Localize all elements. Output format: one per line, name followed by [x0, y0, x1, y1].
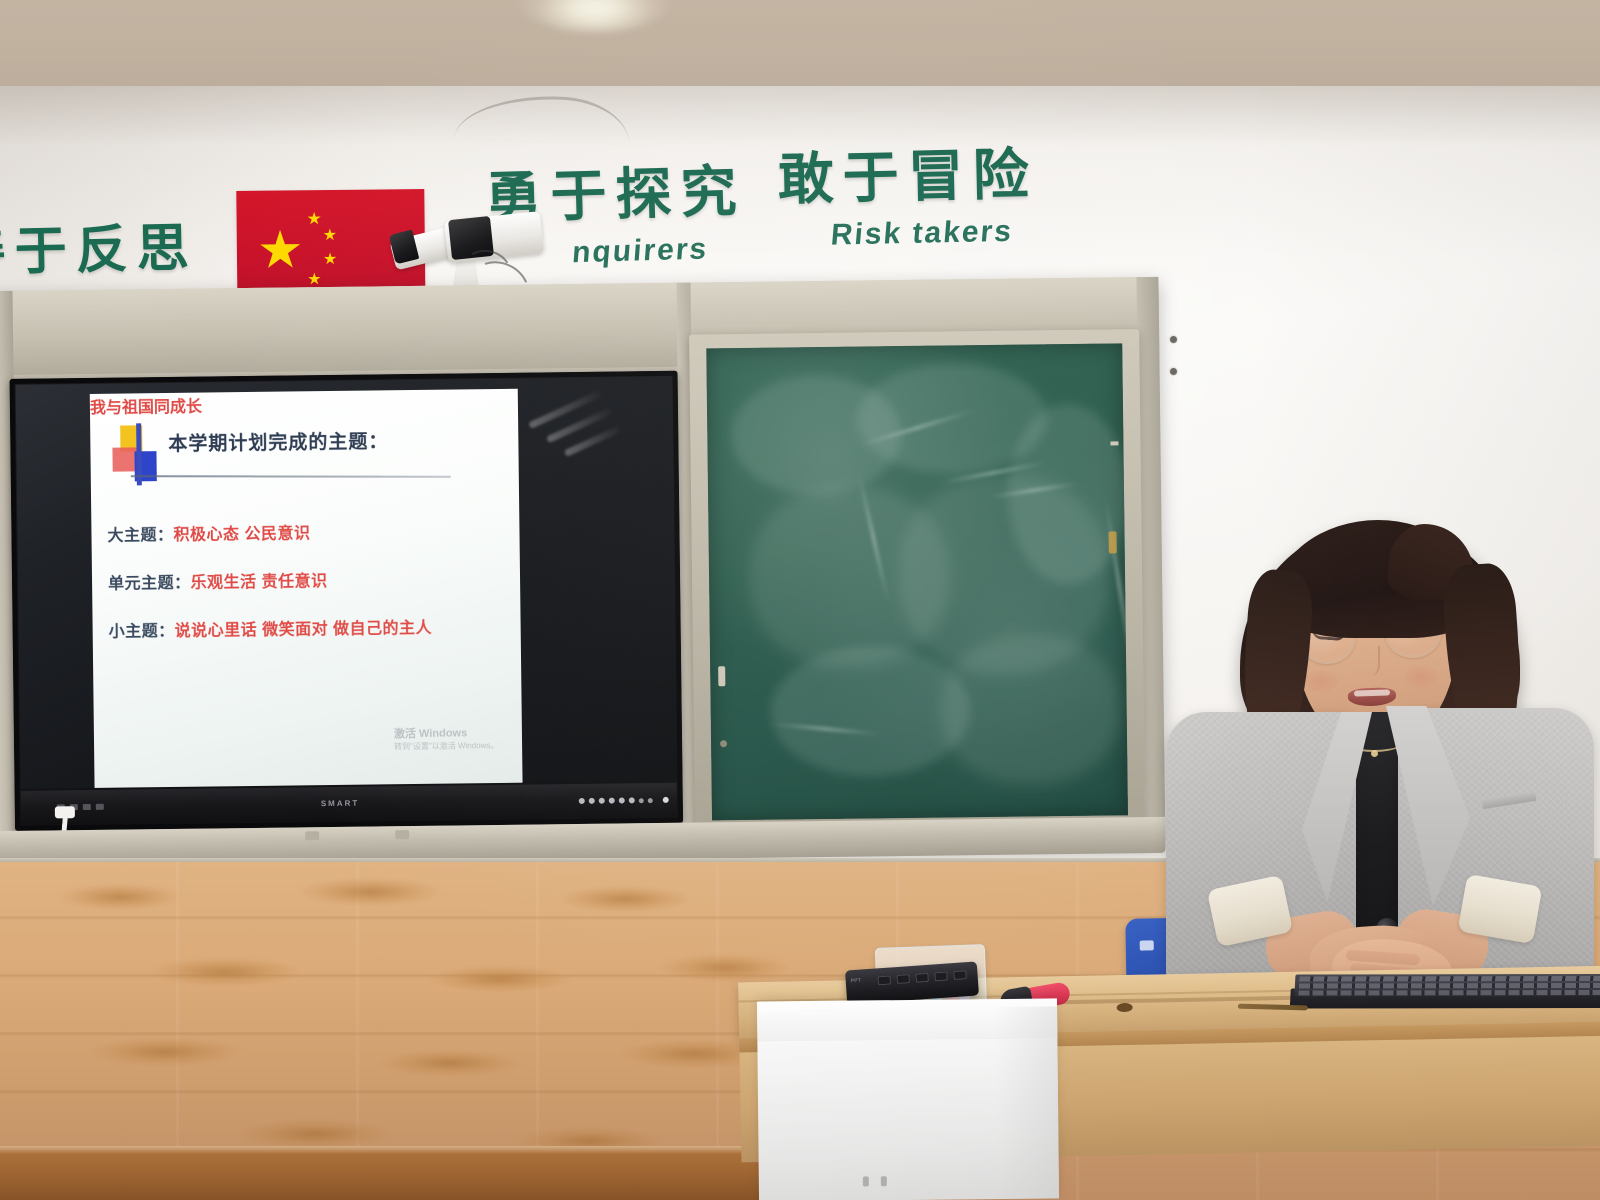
white-panel-edge	[995, 1006, 1059, 1199]
board-assembly: 本学期计划完成的主题： 大主题：积极心态 公民意识 单元主题：乐观生活 责任意识…	[0, 277, 1165, 871]
keyboard-keys[interactable]	[1294, 974, 1600, 997]
control-button[interactable]	[648, 798, 653, 803]
panel-mark	[881, 1176, 887, 1186]
chalk-smudge	[940, 633, 1122, 785]
watermark-subtitle: 转到"设置"以激活 Windows。	[394, 741, 498, 752]
control-button[interactable]	[639, 798, 644, 803]
wall-screw	[1170, 368, 1177, 375]
slide-content: 本学期计划完成的主题： 大主题：积极心态 公民意识 单元主题：乐观生活 责任意识…	[90, 389, 523, 789]
windows-activation-watermark: 激活 Windows 转到"设置"以激活 Windows。	[394, 727, 499, 752]
flag-star-large: ★	[257, 224, 304, 276]
chalkboard-screw	[720, 740, 727, 747]
chalk-smudge	[1007, 403, 1128, 584]
wood-knot	[430, 966, 570, 992]
power-button-icon[interactable]	[663, 797, 669, 803]
flag-star-small: ★	[306, 210, 321, 227]
keyboard-key-row[interactable]	[1298, 990, 1600, 996]
classroom-scene: 善于反思 Reflective 勇于探究 nquirers 敢于冒险 Risk …	[0, 0, 1600, 1200]
chalkboard-clip	[1110, 441, 1118, 445]
control-button[interactable]	[599, 798, 605, 804]
baseboard	[0, 1146, 760, 1200]
wood-knot	[150, 958, 300, 986]
remote-brand-label: PPT	[851, 978, 862, 985]
slide-title: 本学期计划完成的主题：	[168, 426, 388, 456]
wood-knot	[380, 1050, 520, 1076]
keyboard-key-row[interactable]	[1299, 976, 1600, 982]
slogan-en-text: Risk takers	[803, 214, 1040, 253]
remote-button[interactable]	[915, 973, 929, 983]
slide-row-major-theme: 大主题：积极心态 公民意识	[107, 519, 310, 545]
row-label: 小主题：	[109, 623, 175, 641]
panel-mark	[863, 1176, 869, 1186]
slide-row-continuation: 我与祖国同成长	[90, 389, 518, 418]
wall-slogan-risk-takers: 敢于冒险 Risk takers	[777, 129, 1039, 253]
port-icon[interactable]	[83, 804, 91, 810]
row-value: 乐观生活 责任意识	[190, 573, 327, 592]
ceiling	[0, 0, 1600, 92]
cheek	[1304, 670, 1338, 692]
row-label: 大主题：	[107, 527, 173, 545]
teeth	[1354, 689, 1390, 696]
wood-knot	[90, 1038, 240, 1066]
wall-screw	[1170, 336, 1177, 343]
slogan-cn-text: 敢于冒险	[777, 129, 1039, 215]
rail-clip	[305, 831, 319, 840]
keyboard[interactable]	[1289, 974, 1600, 1015]
smart-board-screen[interactable]: 本学期计划完成的主题： 大主题：积极心态 公民意识 单元主题：乐观生活 责任意识…	[16, 377, 677, 789]
slogan-en-text: nquirers	[532, 231, 749, 271]
watermark-title: 激活 Windows	[394, 727, 499, 742]
ceiling-light	[520, 0, 670, 32]
slide-row-unit-theme: 单元主题：乐观生活 责任意识	[108, 567, 328, 594]
control-button[interactable]	[609, 798, 615, 804]
white-panel[interactable]	[757, 998, 1059, 1200]
wood-knot	[60, 884, 180, 910]
control-button[interactable]	[619, 797, 625, 803]
rail-clip	[395, 830, 409, 839]
row-label: 单元主题：	[108, 575, 191, 593]
nose	[1358, 646, 1380, 676]
slogan-cn-text: 善于反思	[0, 205, 198, 285]
green-chalkboard[interactable]	[706, 343, 1128, 820]
flag-star-small: ★	[323, 228, 338, 244]
wood-knot	[560, 886, 690, 912]
smart-board-bezel: SMART	[21, 783, 677, 825]
flag-star-small: ★	[323, 252, 338, 268]
remote-button[interactable]	[953, 970, 967, 980]
wood-knot	[300, 878, 440, 906]
remote-buttons[interactable]	[877, 970, 966, 985]
wood-knot	[240, 1120, 390, 1148]
chalkboard-frame	[689, 329, 1145, 834]
white-panel-markings	[863, 1176, 887, 1186]
control-button[interactable]	[629, 797, 635, 803]
smart-board-brand-logo: SMART	[321, 799, 360, 808]
control-button[interactable]	[589, 798, 595, 804]
keyboard-key-row[interactable]	[1299, 983, 1600, 989]
slide-divider-rule	[131, 475, 451, 478]
baseboard-highlight	[0, 1146, 760, 1154]
remote-button[interactable]	[896, 974, 910, 984]
remote-button[interactable]	[934, 972, 948, 982]
slide-row-minor-theme: 小主题：说说心里话 微笑面对 做自己的主人	[108, 614, 432, 642]
flag-star-small: ★	[307, 272, 322, 288]
chalkboard-clip	[718, 666, 725, 686]
control-button[interactable]	[579, 798, 585, 804]
necklace-pendant	[1371, 750, 1378, 757]
remote-button[interactable]	[877, 975, 891, 985]
smart-board-control-buttons[interactable]	[579, 797, 653, 804]
chalkboard-tape	[1109, 531, 1117, 553]
row-value: 说说心里话 微笑面对 做自己的主人	[175, 620, 433, 640]
presentation-slide[interactable]: 本学期计划完成的主题： 大主题：积极心态 公民意识 单元主题：乐观生活 责任意识…	[90, 389, 523, 789]
row-value: 积极心态 公民意识	[173, 525, 310, 544]
port-icon[interactable]	[96, 804, 104, 810]
interactive-smart-board[interactable]: 本学期计划完成的主题： 大主题：积极心态 公民意识 单元主题：乐观生活 责任意识…	[10, 371, 683, 831]
cheek	[1404, 666, 1438, 688]
